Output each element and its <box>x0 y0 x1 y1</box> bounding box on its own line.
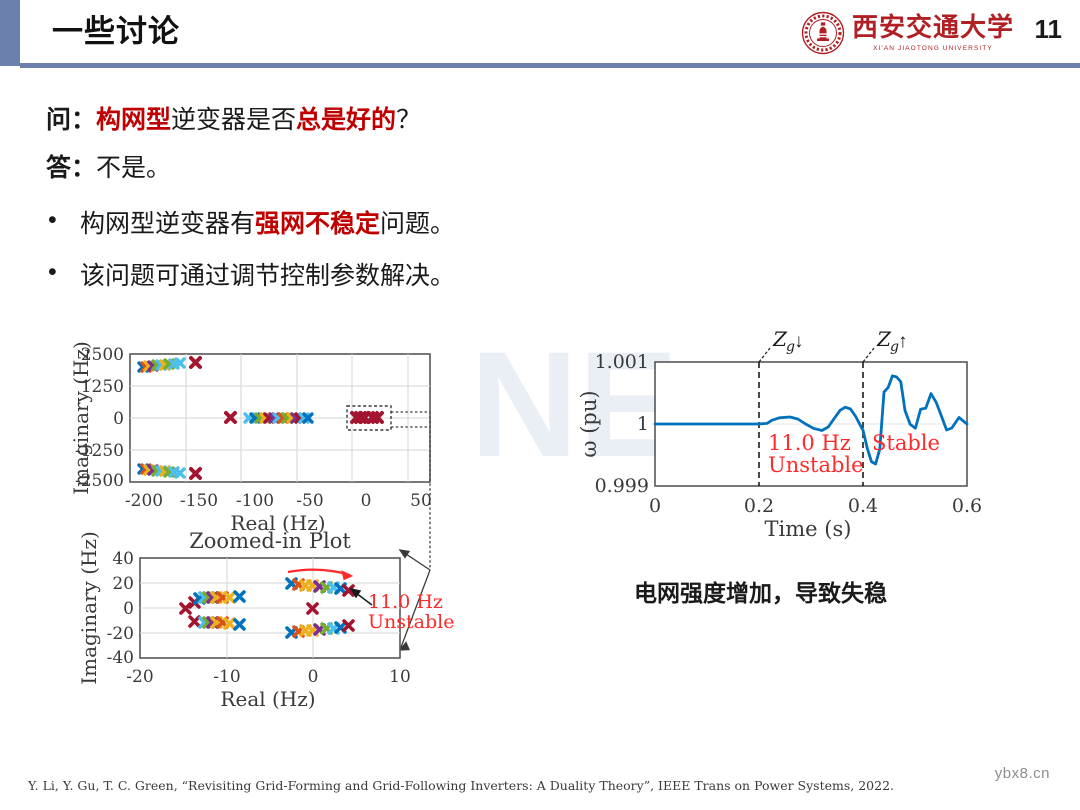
zoom-annotation-line2: Unstable <box>368 611 454 633</box>
bullet-2-pre: 该问题可通过调节控制参数解决。 <box>80 261 455 290</box>
yresp-tick-1001: 1.001 <box>595 351 649 373</box>
bullet-1-highlight: 强网不稳定 <box>255 209 380 238</box>
bullet-1-pre: 构网型逆变器有 <box>80 209 255 238</box>
chart-pole-map-zoom: Zoomed-in Plot 40 20 0 -20 -40 -20 -10 0… <box>77 529 454 711</box>
answer-line: 答：不是。 <box>46 148 171 184</box>
svg-text:↑: ↑ <box>898 331 908 352</box>
ylabel-main: Imaginary (Hz) <box>69 341 93 495</box>
response-annotation-stable: Stable <box>872 431 940 455</box>
xmain-tick-m150: -150 <box>180 491 218 511</box>
bullet-item-1: 构网型逆变器有强网不稳定问题。 <box>80 204 455 240</box>
university-seal-icon <box>801 11 845 55</box>
site-watermark: ybx8.cn <box>995 765 1050 782</box>
chart-omega-time-response: 1.001 1 0.999 0 0.2 0.4 0.6 Time (s) ω (… <box>577 327 982 541</box>
question-label: 问： <box>46 105 96 134</box>
svg-text:11.0 Hz: 11.0 Hz <box>768 431 851 455</box>
yzoom-tick-20: 20 <box>112 574 134 594</box>
question-highlight-1: 构网型 <box>96 105 171 134</box>
cluster-near-origin <box>352 413 382 422</box>
zoom-annotation-line1: 11.0 Hz <box>368 591 443 613</box>
question-text-mid: 逆变器是否 <box>171 105 296 134</box>
response-annotation-unstable: 11.0 Hz Unstable <box>768 431 864 477</box>
ylabel-response: ω (pu) <box>577 390 601 457</box>
bullet-marker-2: • <box>48 260 57 285</box>
event-label-zg-down: Z g ↓ <box>772 327 804 355</box>
yresp-tick-1: 1 <box>637 413 649 435</box>
bullet-1-post: 问题。 <box>380 209 455 238</box>
bullet-marker-1: • <box>48 208 57 233</box>
xmain-tick-m100: -100 <box>236 491 274 511</box>
xmain-tick-m200: -200 <box>125 491 163 511</box>
university-name-en: XI'AN JIAOTONG UNIVERSITY <box>873 45 993 52</box>
question-highlight-2: 总是好的 <box>296 105 396 134</box>
page-title: 一些讨论 <box>52 10 180 54</box>
yzoom-tick-0: 0 <box>123 599 134 619</box>
question-mark: ？ <box>396 105 421 134</box>
ylabel-zoom: Imaginary (Hz) <box>77 531 101 685</box>
xzoom-tick-0: 0 <box>308 667 319 687</box>
xlabel-response: Time (s) <box>765 517 852 541</box>
slide-header: 一些讨论 西安交通大学 XI'AN JIAOTONG UNIVERSITY 11 <box>0 0 1080 72</box>
xresp-tick-0: 0 <box>649 495 661 517</box>
yzoom-tick-m40: -40 <box>107 648 134 668</box>
svg-text:Unstable: Unstable <box>768 453 864 477</box>
zoom-plot-title: Zoomed-in Plot <box>189 529 351 553</box>
xmain-tick-50: 50 <box>410 491 432 511</box>
university-name-cn: 西安交通大学 <box>852 15 1014 41</box>
svg-text:↓: ↓ <box>794 331 804 352</box>
yzoom-tick-40: 40 <box>112 549 134 569</box>
xresp-tick-06: 0.6 <box>952 495 982 517</box>
header-accent-bar <box>0 0 20 66</box>
citation-footer: Y. Li, Y. Gu, T. C. Green, “Revisiting G… <box>28 778 1052 793</box>
xresp-tick-04: 0.4 <box>848 495 878 517</box>
event-label-zg-up: Z g ↑ <box>876 327 908 355</box>
yresp-tick-0999: 0.999 <box>595 475 649 497</box>
chart-pole-map-main: 2500 1250 0 -1250 -2500 -200 -150 -100 -… <box>69 341 432 535</box>
bullet-item-2: 该问题可通过调节控制参数解决。 <box>80 256 455 292</box>
university-logo: 西安交通大学 XI'AN JIAOTONG UNIVERSITY <box>801 8 1014 58</box>
xresp-tick-02: 0.2 <box>744 495 774 517</box>
xlabel-zoom: Real (Hz) <box>220 687 315 711</box>
yzoom-tick-m20: -20 <box>107 624 134 644</box>
answer-label: 答： <box>46 153 96 182</box>
xzoom-tick-m10: -10 <box>213 667 240 687</box>
ymain-tick-0: 0 <box>113 409 124 429</box>
answer-text: 不是。 <box>96 153 171 182</box>
page-number: 11 <box>1035 14 1063 45</box>
xzoom-tick-m20: -20 <box>126 667 153 687</box>
xzoom-tick-10: 10 <box>389 667 411 687</box>
question-line: 问：构网型逆变器是否总是好的？ <box>46 100 421 136</box>
xmain-tick-0: 0 <box>361 491 372 511</box>
xmain-tick-m50: -50 <box>296 491 323 511</box>
figure-group: 2500 1250 0 -1250 -2500 -200 -150 -100 -… <box>0 320 1080 740</box>
header-rule <box>20 63 1080 68</box>
